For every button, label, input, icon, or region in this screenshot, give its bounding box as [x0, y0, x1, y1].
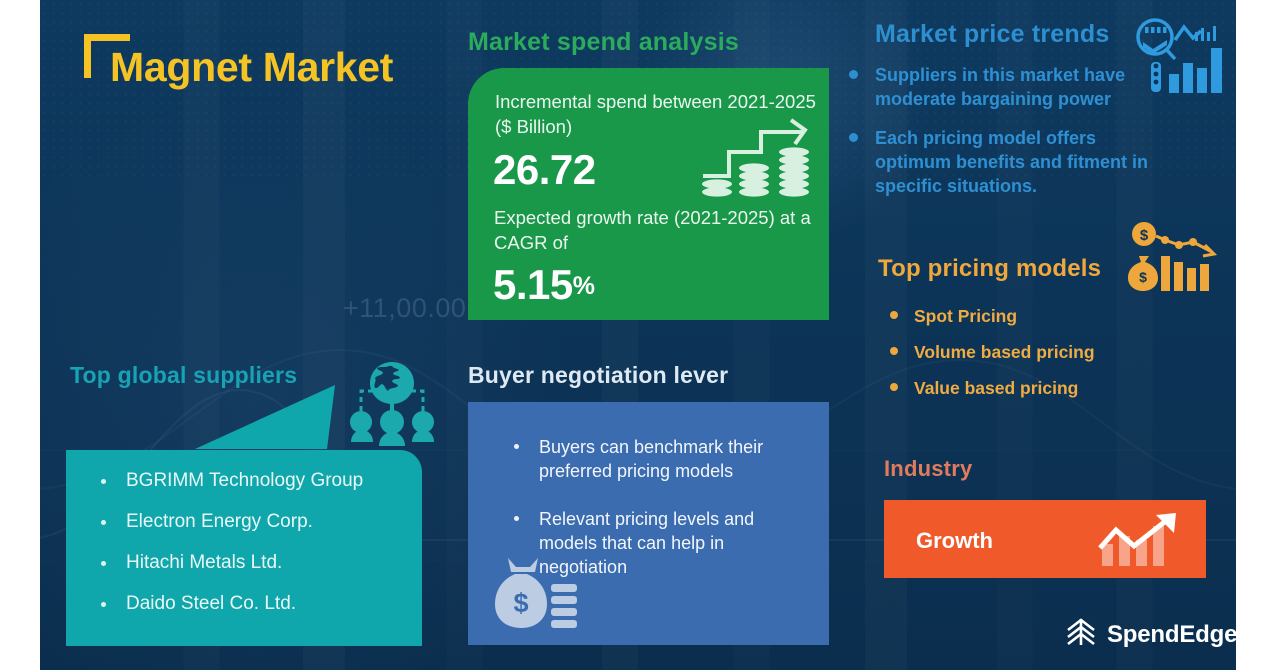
cagr-value-block: 5.15% [493, 261, 594, 309]
list-item: Electron Energy Corp. [92, 510, 363, 534]
incremental-spend-value: 26.72 [493, 146, 596, 194]
spendedge-name: SpendEdge [1107, 621, 1237, 648]
spendedge-mark-icon [1064, 616, 1098, 653]
industry-status-label: Growth [916, 528, 993, 554]
page-title-block: Magnet Market [84, 34, 367, 81]
svg-text:$: $ [1140, 227, 1149, 244]
cagr-value: 5.15 [493, 261, 573, 308]
market-spend-card: Incremental spend between 2021-2025 ($ B… [468, 68, 829, 320]
market-price-trends-bullets: Suppliers in this market have moderate b… [842, 63, 1172, 213]
list-item: Suppliers in this market have moderate b… [842, 63, 1172, 111]
list-item: Buyers can benchmark their preferred pri… [506, 435, 806, 483]
cagr-unit: % [573, 272, 595, 300]
svg-text:$: $ [1139, 269, 1147, 285]
infographic-root: +11,00.00 0 Magnet Market Market spend a… [0, 0, 1279, 670]
growth-arrow-chart-icon [1096, 510, 1192, 575]
buyer-negotiation-heading: Buyer negotiation lever [468, 362, 728, 389]
industry-heading: Industry [884, 456, 972, 482]
cagr-label: Expected growth rate (2021-2025) at a CA… [494, 205, 829, 255]
top-pricing-models-list: Spot Pricing Volume based pricing Value … [884, 305, 1095, 413]
industry-growth-banner: Growth [884, 500, 1206, 578]
list-item: Spot Pricing [884, 305, 1095, 327]
list-item: Volume based pricing [884, 341, 1095, 363]
top-pricing-models-heading: Top pricing models [878, 255, 1101, 283]
list-item: Value based pricing [884, 377, 1095, 399]
background-watermark-number: +11,00.00 [343, 293, 466, 324]
teal-callout-tail [195, 385, 340, 458]
money-bag-declining-chart-icon: $ $ [1128, 220, 1228, 305]
page-title: Magnet Market [110, 44, 393, 91]
buyer-negotiation-box: Buyers can benchmark their preferred pri… [468, 402, 829, 645]
market-spend-heading: Market spend analysis [468, 28, 739, 57]
spendedge-logo: SpendEdge™ [1064, 616, 1246, 653]
globe-network-icon [345, 360, 440, 457]
top-global-suppliers-box: BGRIMM Technology Group Electron Energy … [66, 450, 422, 646]
list-item: Each pricing model offers optimum benefi… [842, 126, 1172, 198]
spendedge-wordmark: SpendEdge™ [1107, 621, 1246, 649]
list-item: Hitachi Metals Ltd. [92, 551, 363, 575]
trademark-symbol: ™ [1237, 622, 1246, 632]
svg-text:$: $ [513, 588, 528, 618]
coins-growth-icon [699, 110, 819, 207]
market-price-trends-heading: Market price trends [875, 20, 1109, 49]
list-item: Daido Steel Co. Ltd. [92, 592, 363, 616]
supplier-list: BGRIMM Technology Group Electron Energy … [92, 469, 363, 633]
list-item: BGRIMM Technology Group [92, 469, 363, 493]
money-bag-coins-icon: $ [489, 554, 577, 637]
